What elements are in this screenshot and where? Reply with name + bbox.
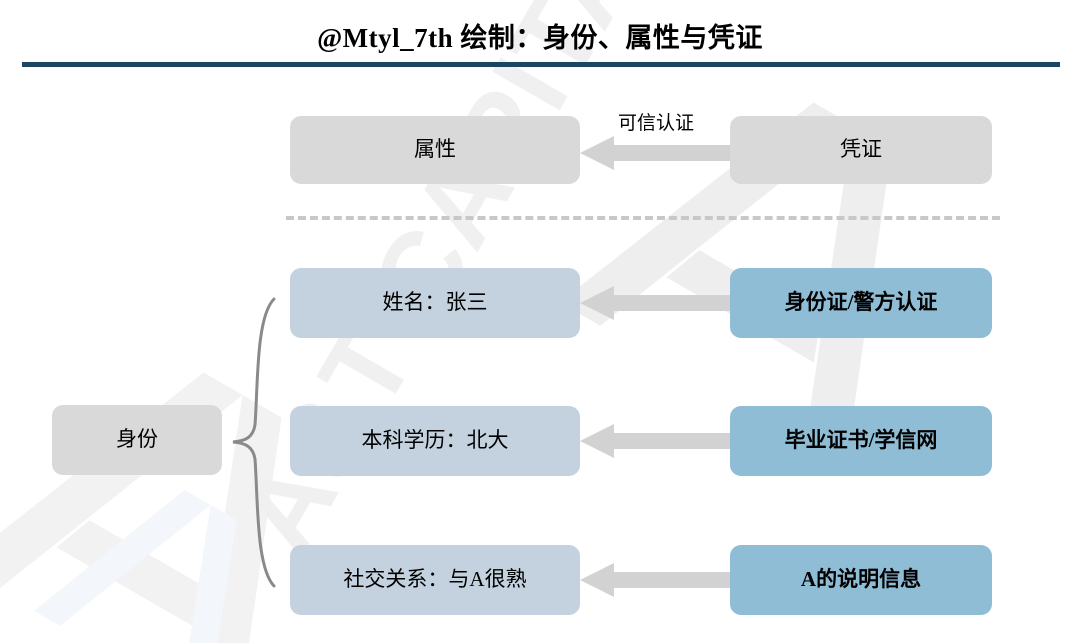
slide-canvas: A&T CAPITAL @Mtyl_7th 绘制：身份、属性与凭证 属性 可信认…	[0, 0, 1080, 643]
box-credential-concept[interactable]: 凭证	[730, 116, 992, 184]
box-attribute-concept[interactable]: 属性	[290, 116, 580, 184]
box-credential-row-3[interactable]: A的说明信息	[730, 545, 992, 615]
box-identity[interactable]: 身份	[52, 405, 222, 475]
box-attribute-row-3[interactable]: 社交关系：与A很熟	[290, 545, 580, 615]
section-divider-dashed	[286, 216, 1000, 220]
arrow-left-row-3	[580, 563, 732, 597]
arrow-left-row-2	[580, 424, 732, 458]
arrow-label-trusted-attestation: 可信认证	[580, 108, 732, 135]
box-attribute-row-2[interactable]: 本科学历：北大	[290, 406, 580, 476]
box-attribute-row-1[interactable]: 姓名：张三	[290, 268, 580, 338]
arrow-left-row-1	[580, 286, 732, 320]
box-credential-row-2[interactable]: 毕业证书/学信网	[730, 406, 992, 476]
box-credential-row-1[interactable]: 身份证/警方认证	[730, 268, 992, 338]
page-title: @Mtyl_7th 绘制：身份、属性与凭证	[0, 16, 1080, 55]
curly-brace	[222, 295, 280, 590]
title-divider-rule	[22, 62, 1060, 67]
arrow-left-concept	[580, 136, 732, 170]
